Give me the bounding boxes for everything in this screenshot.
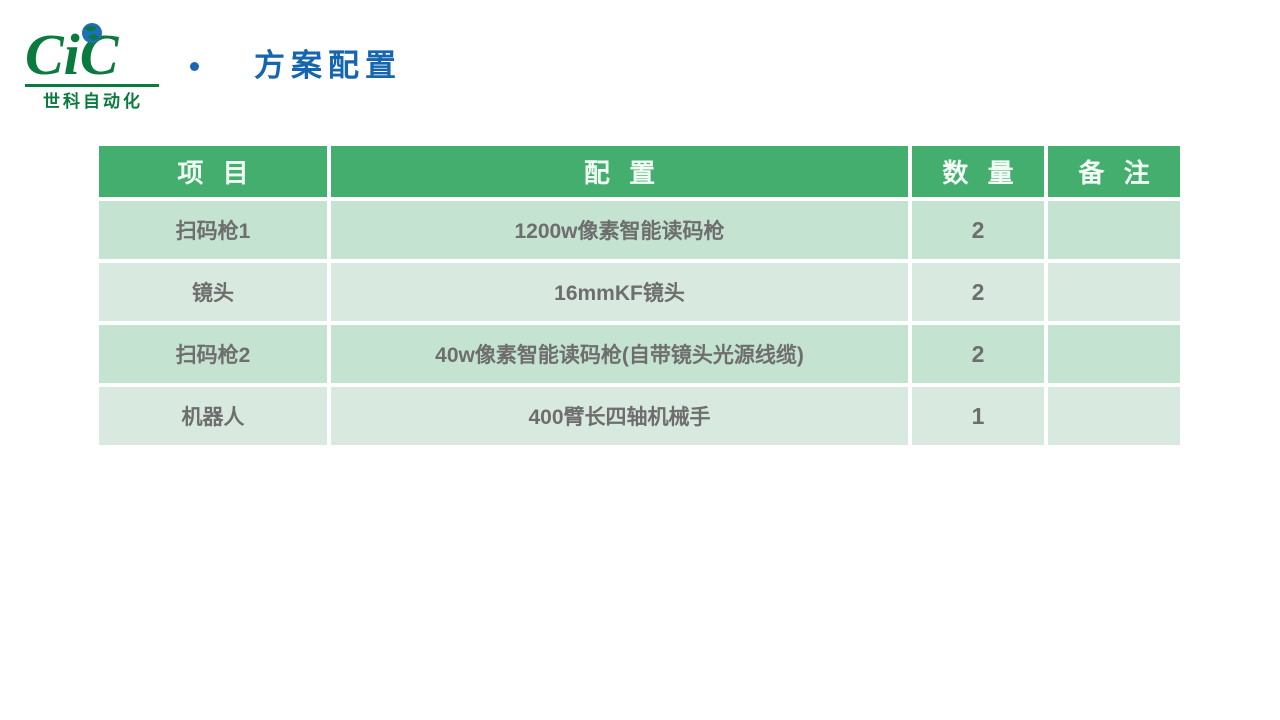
table-header-row: 项 目 配 置 数 量 备 注 bbox=[99, 146, 1180, 197]
cell-config: 400臂长四轴机械手 bbox=[331, 387, 908, 445]
column-header-note: 备 注 bbox=[1048, 146, 1180, 197]
cell-note bbox=[1048, 387, 1180, 445]
bullet-icon bbox=[190, 62, 199, 71]
table-row: 镜头 16mmKF镜头 2 bbox=[99, 263, 1180, 321]
page-title: 方案配置 bbox=[254, 49, 402, 83]
logo-divider-rule bbox=[25, 84, 159, 87]
cell-note bbox=[1048, 325, 1180, 383]
cell-item: 镜头 bbox=[99, 263, 327, 321]
cic-logo-icon: CiC bbox=[23, 22, 163, 84]
logo-wordmark-mark: CiC bbox=[23, 22, 163, 84]
cell-item: 扫码枪1 bbox=[99, 201, 327, 259]
column-header-item: 项 目 bbox=[99, 146, 327, 197]
table-row: 机器人 400臂长四轴机械手 1 bbox=[99, 387, 1180, 445]
column-header-qty: 数 量 bbox=[912, 146, 1044, 197]
globe-icon bbox=[82, 23, 102, 43]
svg-text:CiC: CiC bbox=[25, 22, 120, 84]
cell-item: 扫码枪2 bbox=[99, 325, 327, 383]
cell-note bbox=[1048, 263, 1180, 321]
cell-qty: 2 bbox=[912, 201, 1044, 259]
table-row: 扫码枪2 40w像素智能读码枪(自带镜头光源线缆) 2 bbox=[99, 325, 1180, 383]
cell-config: 1200w像素智能读码枪 bbox=[331, 201, 908, 259]
slide-header: CiC 世科自动化 方案配置 bbox=[0, 0, 1280, 130]
cell-qty: 1 bbox=[912, 387, 1044, 445]
configuration-table: 项 目 配 置 数 量 备 注 扫码枪1 1200w像素智能读码枪 2 镜头 1… bbox=[95, 142, 1184, 449]
cell-note bbox=[1048, 201, 1180, 259]
company-logo: CiC 世科自动化 bbox=[23, 22, 163, 117]
cell-config: 40w像素智能读码枪(自带镜头光源线缆) bbox=[331, 325, 908, 383]
table-row: 扫码枪1 1200w像素智能读码枪 2 bbox=[99, 201, 1180, 259]
cell-qty: 2 bbox=[912, 263, 1044, 321]
column-header-config: 配 置 bbox=[331, 146, 908, 197]
logo-subtitle: 世科自动化 bbox=[25, 90, 161, 114]
cell-config: 16mmKF镜头 bbox=[331, 263, 908, 321]
cell-qty: 2 bbox=[912, 325, 1044, 383]
cell-item: 机器人 bbox=[99, 387, 327, 445]
page-title-row: 方案配置 bbox=[190, 42, 402, 90]
